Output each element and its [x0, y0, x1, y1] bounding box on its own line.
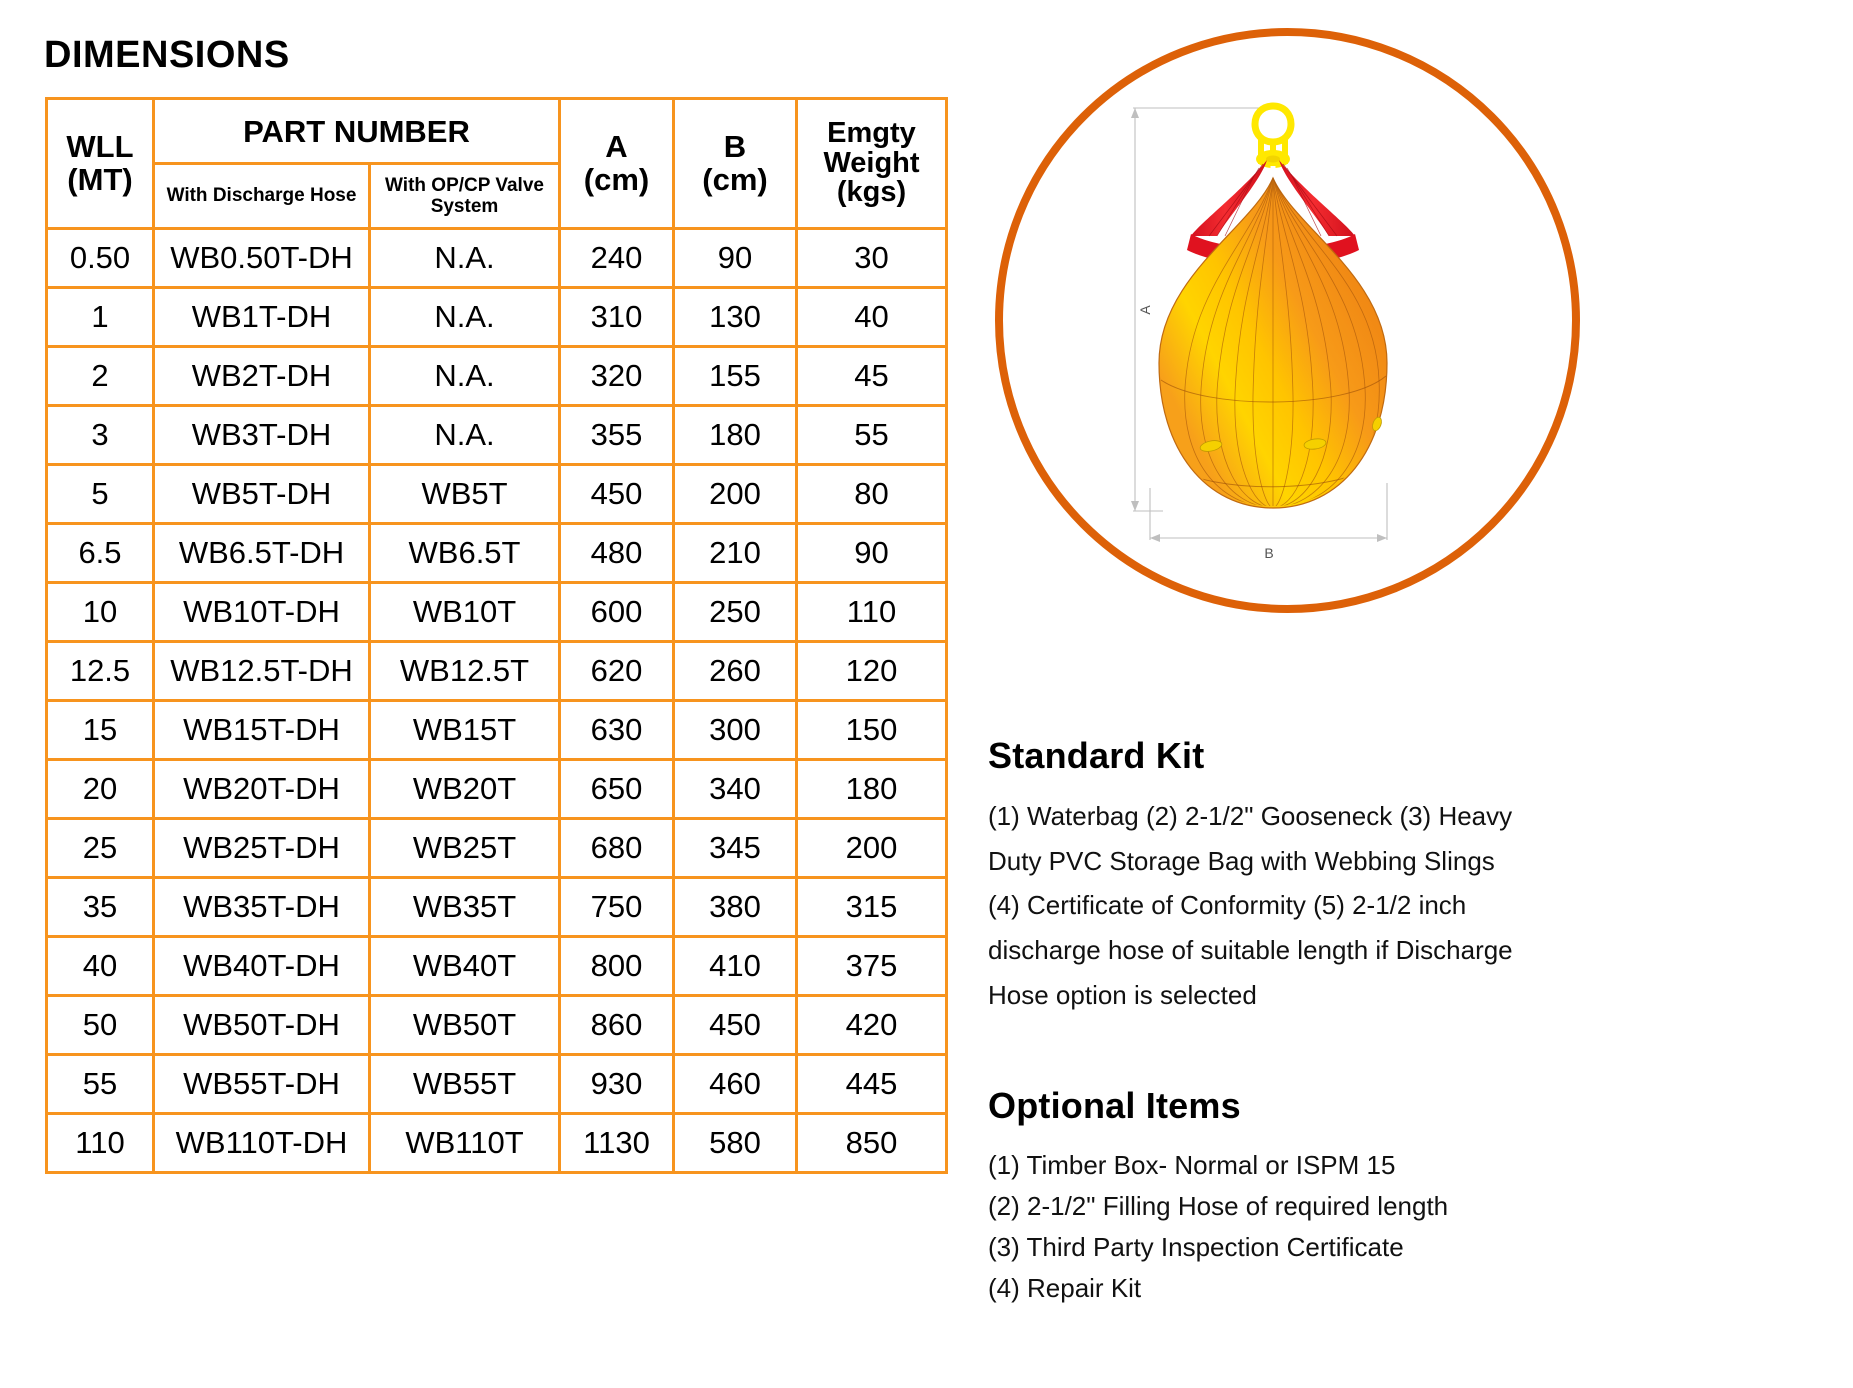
- table-cell: WB6.5T: [370, 524, 560, 583]
- table-cell: 620: [560, 642, 674, 701]
- info-panel: A B: [980, 0, 1853, 1388]
- table-cell: 45: [797, 347, 947, 406]
- table-row: 15WB15T-DHWB15T630300150: [47, 701, 947, 760]
- table-cell: 3: [47, 406, 154, 465]
- table-row: 6.5WB6.5T-DHWB6.5T48021090: [47, 524, 947, 583]
- table-cell: WB110T: [370, 1114, 560, 1173]
- table-cell: 930: [560, 1055, 674, 1114]
- table-cell: 155: [674, 347, 797, 406]
- table-cell: 0.50: [47, 229, 154, 288]
- table-cell: WB110T-DH: [154, 1114, 370, 1173]
- table-cell: WB12.5T: [370, 642, 560, 701]
- table-cell: 300: [674, 701, 797, 760]
- dimensions-table: WLL (MT) PART NUMBER A (cm) B (cm) Emgty…: [45, 97, 948, 1174]
- table-cell: WB50T: [370, 996, 560, 1055]
- table-row: 35WB35T-DHWB35T750380315: [47, 878, 947, 937]
- table-cell: 15: [47, 701, 154, 760]
- table-row: 12.5WB12.5T-DHWB12.5T620260120: [47, 642, 947, 701]
- table-row: 3WB3T-DHN.A.35518055: [47, 406, 947, 465]
- table-cell: 650: [560, 760, 674, 819]
- table-cell: 860: [560, 996, 674, 1055]
- table-header: WLL (MT) PART NUMBER A (cm) B (cm) Emgty…: [47, 99, 947, 229]
- table-cell: N.A.: [370, 288, 560, 347]
- optional-items-list: (1) Timber Box- Normal or ISPM 15(2) 2-1…: [988, 1145, 1548, 1309]
- header-b: B (cm): [674, 99, 797, 229]
- table-cell: 40: [797, 288, 947, 347]
- table-cell: WB10T-DH: [154, 583, 370, 642]
- table-cell: 445: [797, 1055, 947, 1114]
- table-cell: 2: [47, 347, 154, 406]
- table-cell: 200: [797, 819, 947, 878]
- header-b-line1: B: [675, 131, 795, 164]
- table-cell: WB12.5T-DH: [154, 642, 370, 701]
- shackle-icon: [1255, 106, 1291, 168]
- table-cell: 10: [47, 583, 154, 642]
- table-cell: 375: [797, 937, 947, 996]
- table-cell: 1130: [560, 1114, 674, 1173]
- table-cell: WB25T-DH: [154, 819, 370, 878]
- table-cell: 340: [674, 760, 797, 819]
- table-cell: 90: [674, 229, 797, 288]
- table-cell: 240: [560, 229, 674, 288]
- table-cell: 750: [560, 878, 674, 937]
- header-weight-line3: (kgs): [798, 178, 945, 208]
- standard-kit-body: (1) Waterbag (2) 2-1/2" Gooseneck (3) He…: [988, 794, 1528, 1018]
- table-cell: 580: [674, 1114, 797, 1173]
- table-cell: 6.5: [47, 524, 154, 583]
- table-cell: 35: [47, 878, 154, 937]
- table-row: 55WB55T-DHWB55T930460445: [47, 1055, 947, 1114]
- table-header-row-1: WLL (MT) PART NUMBER A (cm) B (cm) Emgty…: [47, 99, 947, 164]
- table-cell: WB3T-DH: [154, 406, 370, 465]
- optional-item: (4) Repair Kit: [988, 1268, 1548, 1309]
- table-cell: WB1T-DH: [154, 288, 370, 347]
- table-cell: 410: [674, 937, 797, 996]
- standard-kit-heading: Standard Kit: [988, 735, 1204, 777]
- table-cell: 90: [797, 524, 947, 583]
- table-cell: 630: [560, 701, 674, 760]
- optional-items-heading: Optional Items: [988, 1085, 1241, 1127]
- table-cell: WB25T: [370, 819, 560, 878]
- table-cell: 315: [797, 878, 947, 937]
- table-cell: N.A.: [370, 406, 560, 465]
- header-wll-line1: WLL: [48, 131, 152, 164]
- table-cell: N.A.: [370, 347, 560, 406]
- table-cell: WB35T: [370, 878, 560, 937]
- table-cell: WB5T: [370, 465, 560, 524]
- table-cell: 80: [797, 465, 947, 524]
- table-cell: 30: [797, 229, 947, 288]
- table-row: 50WB50T-DHWB50T860450420: [47, 996, 947, 1055]
- table-body: 0.50WB0.50T-DHN.A.24090301WB1T-DHN.A.310…: [47, 229, 947, 1173]
- header-with-discharge-hose: With Discharge Hose: [154, 164, 370, 229]
- table-cell: WB35T-DH: [154, 878, 370, 937]
- table-cell: 150: [797, 701, 947, 760]
- table-cell: WB20T-DH: [154, 760, 370, 819]
- table-row: 2WB2T-DHN.A.32015545: [47, 347, 947, 406]
- table-cell: WB55T-DH: [154, 1055, 370, 1114]
- table-cell: 320: [560, 347, 674, 406]
- waterbag-body: [1159, 178, 1387, 508]
- table-cell: 50: [47, 996, 154, 1055]
- waterbag-illustration: A B: [995, 28, 1580, 613]
- table-cell: WB15T: [370, 701, 560, 760]
- table-cell: WB40T-DH: [154, 937, 370, 996]
- table-cell: 110: [797, 583, 947, 642]
- table-cell: 380: [674, 878, 797, 937]
- header-b-line2: (cm): [675, 164, 795, 197]
- table-cell: 20: [47, 760, 154, 819]
- dimension-b-label: B: [1264, 545, 1273, 561]
- table-cell: 40: [47, 937, 154, 996]
- table-cell: 110: [47, 1114, 154, 1173]
- table-row: 20WB20T-DHWB20T650340180: [47, 760, 947, 819]
- table-cell: 180: [797, 760, 947, 819]
- table-row: 10WB10T-DHWB10T600250110: [47, 583, 947, 642]
- table-cell: 450: [674, 996, 797, 1055]
- table-cell: WB10T: [370, 583, 560, 642]
- table-cell: 345: [674, 819, 797, 878]
- header-a: A (cm): [560, 99, 674, 229]
- table-cell: 120: [797, 642, 947, 701]
- table-cell: 250: [674, 583, 797, 642]
- table-cell: WB0.50T-DH: [154, 229, 370, 288]
- header-weight-line1: Emgty: [798, 119, 945, 149]
- table-cell: 180: [674, 406, 797, 465]
- table-cell: 460: [674, 1055, 797, 1114]
- table-cell: 600: [560, 583, 674, 642]
- table-cell: WB15T-DH: [154, 701, 370, 760]
- table-cell: 130: [674, 288, 797, 347]
- table-cell: 355: [560, 406, 674, 465]
- dimensions-panel: DIMENSIONS WLL (MT) PART NUMBER A (cm) B…: [0, 0, 1000, 1388]
- table-cell: WB5T-DH: [154, 465, 370, 524]
- table-cell: WB55T: [370, 1055, 560, 1114]
- table-row: 25WB25T-DHWB25T680345200: [47, 819, 947, 878]
- table-cell: WB20T: [370, 760, 560, 819]
- table-cell: N.A.: [370, 229, 560, 288]
- optional-item: (2) 2-1/2" Filling Hose of required leng…: [988, 1186, 1548, 1227]
- product-figure: A B: [995, 28, 1580, 613]
- table-cell: 210: [674, 524, 797, 583]
- table-cell: WB6.5T-DH: [154, 524, 370, 583]
- header-wll-line2: (MT): [48, 164, 152, 197]
- header-wll: WLL (MT): [47, 99, 154, 229]
- page-title: DIMENSIONS: [44, 34, 290, 77]
- header-a-line2: (cm): [561, 164, 672, 197]
- table-cell: WB2T-DH: [154, 347, 370, 406]
- table-cell: 260: [674, 642, 797, 701]
- table-cell: 420: [797, 996, 947, 1055]
- table-cell: 480: [560, 524, 674, 583]
- table-cell: 800: [560, 937, 674, 996]
- table-cell: 5: [47, 465, 154, 524]
- table-cell: 850: [797, 1114, 947, 1173]
- header-empty-weight: Emgty Weight (kgs): [797, 99, 947, 229]
- table-cell: 1: [47, 288, 154, 347]
- table-row: 5WB5T-DHWB5T45020080: [47, 465, 947, 524]
- header-weight-line2: Weight: [798, 149, 945, 179]
- header-a-line1: A: [561, 131, 672, 164]
- table-row: 1WB1T-DHN.A.31013040: [47, 288, 947, 347]
- table-cell: 200: [674, 465, 797, 524]
- table-row: 110WB110T-DHWB110T1130580850: [47, 1114, 947, 1173]
- table-cell: WB40T: [370, 937, 560, 996]
- dimension-a-label: A: [1137, 305, 1153, 315]
- table-row: 0.50WB0.50T-DHN.A.2409030: [47, 229, 947, 288]
- header-part-number: PART NUMBER: [154, 99, 560, 164]
- table-cell: 450: [560, 465, 674, 524]
- header-with-opcp-valve-system: With OP/CP Valve System: [370, 164, 560, 229]
- optional-item: (3) Third Party Inspection Certificate: [988, 1227, 1548, 1268]
- table-cell: WB50T-DH: [154, 996, 370, 1055]
- table-row: 40WB40T-DHWB40T800410375: [47, 937, 947, 996]
- table-cell: 55: [47, 1055, 154, 1114]
- table-cell: 310: [560, 288, 674, 347]
- table-cell: 55: [797, 406, 947, 465]
- optional-item: (1) Timber Box- Normal or ISPM 15: [988, 1145, 1548, 1186]
- table-cell: 25: [47, 819, 154, 878]
- table-cell: 680: [560, 819, 674, 878]
- table-cell: 12.5: [47, 642, 154, 701]
